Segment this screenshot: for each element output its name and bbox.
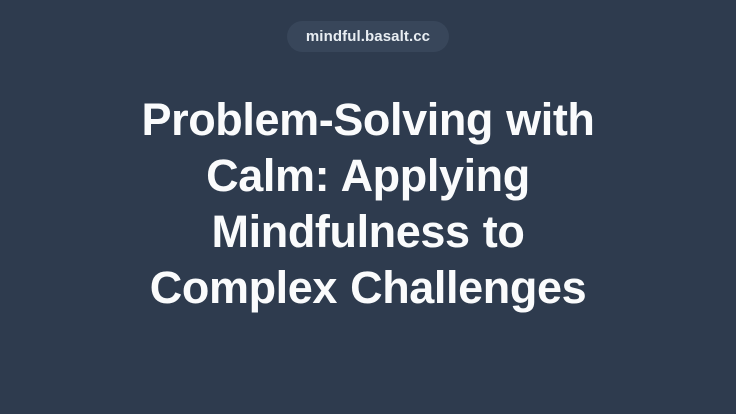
title-line-4: Complex Challenges bbox=[58, 260, 678, 316]
page-title: Problem-Solving with Calm: Applying Mind… bbox=[58, 92, 678, 316]
badge-row: mindful.basalt.cc bbox=[0, 21, 736, 52]
title-card-slide: mindful.basalt.cc Problem-Solving with C… bbox=[0, 0, 736, 414]
title-line-3: Mindfulness to bbox=[58, 204, 678, 260]
title-block: Problem-Solving with Calm: Applying Mind… bbox=[58, 92, 678, 316]
title-line-2: Calm: Applying bbox=[58, 148, 678, 204]
site-domain-badge[interactable]: mindful.basalt.cc bbox=[287, 21, 449, 52]
title-line-1: Problem-Solving with bbox=[58, 92, 678, 148]
